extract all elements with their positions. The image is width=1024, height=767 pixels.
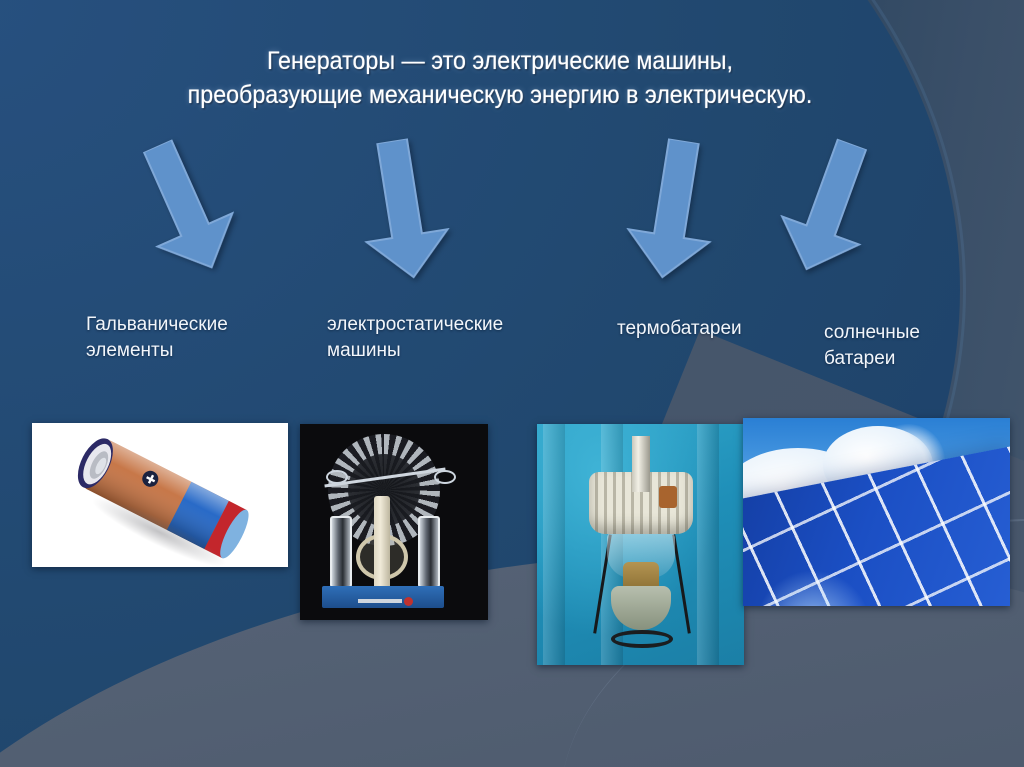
thermopile-chimney: [632, 436, 650, 492]
slide-title: Генераторы — это электрические машины, п…: [0, 44, 1000, 112]
battery-photo: [32, 423, 288, 567]
category-label-galvanic: Гальванические элементы: [86, 312, 296, 364]
category-label-solar-line2: батареи: [824, 346, 994, 372]
stand-base-ring: [611, 630, 673, 648]
category-label-electrostatic-line1: электростатические: [327, 312, 567, 338]
electrostatic-machine-photo: [300, 424, 488, 620]
wimshurst-knob: [404, 597, 413, 606]
cloth-fold-1: [543, 424, 565, 665]
thermobattery-photo: [537, 424, 744, 665]
wimshurst-ball-right: [434, 470, 456, 484]
title-line-1: Генераторы — это электрические машины,: [35, 44, 965, 78]
wimshurst-post: [374, 496, 390, 592]
category-label-electrostatic: электростатические машины: [327, 312, 567, 364]
presentation-slide: Генераторы — это электрические машины, п…: [0, 0, 1024, 767]
category-label-solar-line1: солнечные: [824, 320, 994, 346]
cloth-fold-3: [697, 424, 719, 665]
wimshurst-ball-left: [326, 470, 348, 484]
thermopile-terminal: [659, 486, 677, 508]
battery-illustration: [32, 423, 288, 567]
category-label-thermobattery: термобатареи: [617, 316, 807, 342]
category-label-thermobattery-line1: термобатареи: [617, 316, 807, 342]
wimshurst-leyden-jar-left: [330, 516, 352, 588]
wimshurst-leyden-jar-right: [418, 516, 440, 588]
wimshurst-base: [322, 586, 444, 608]
solar-panel-photo: [743, 418, 1010, 606]
category-label-electrostatic-line2: машины: [327, 338, 567, 364]
wimshurst-spark-gap: [358, 599, 402, 603]
category-label-solar: солнечные батареи: [824, 320, 994, 372]
category-label-galvanic-line1: Гальванические: [86, 312, 296, 338]
title-line-2: преобразующие механическую энергию в эле…: [35, 78, 965, 112]
category-label-galvanic-line2: элементы: [86, 338, 296, 364]
